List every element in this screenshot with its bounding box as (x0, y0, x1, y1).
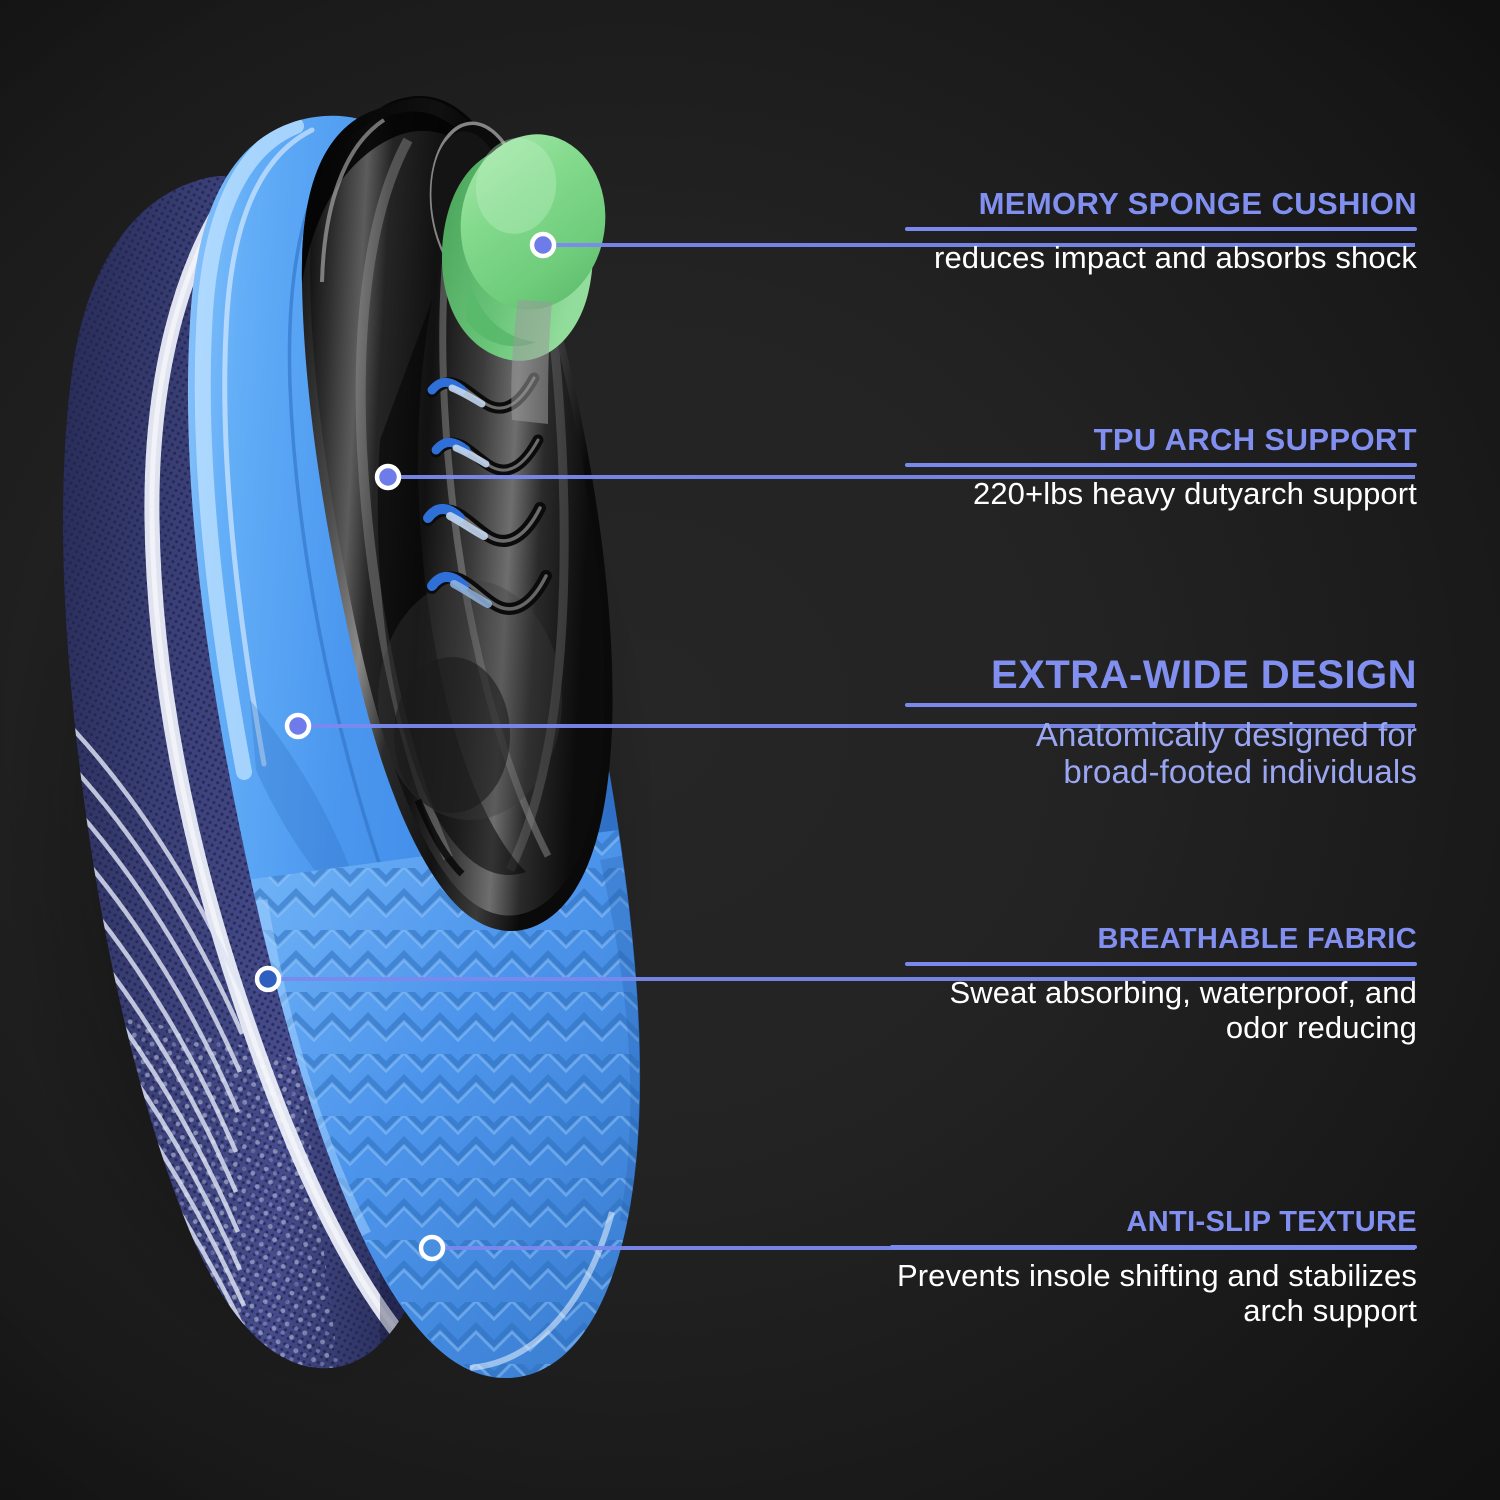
vignette-overlay (0, 0, 1500, 1500)
infographic-canvas: MEMORY SPONGE CUSHION reduces impact and… (0, 0, 1500, 1500)
